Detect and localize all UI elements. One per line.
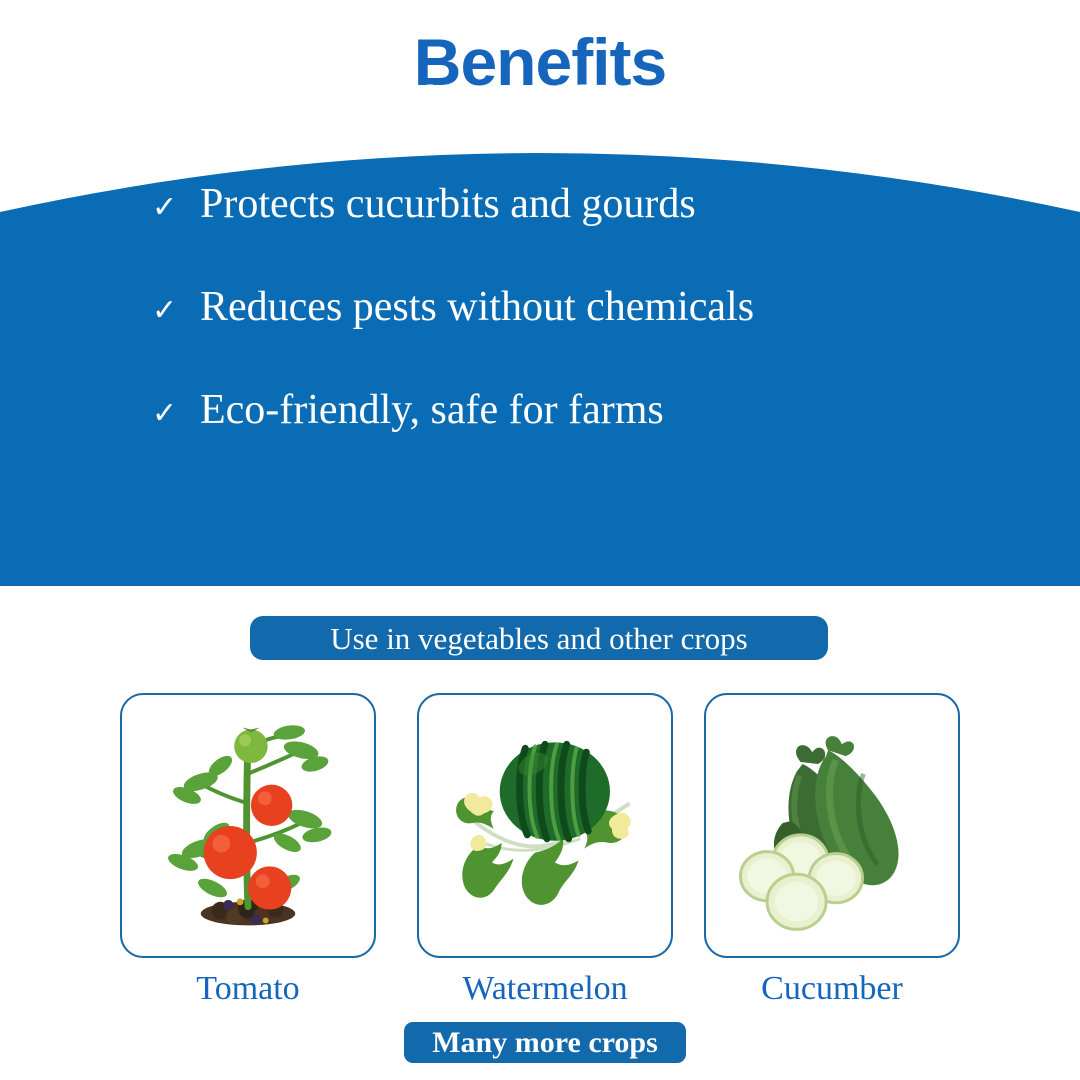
benefits-infographic: Benefits ✓ Traps harmful vegetable fruit… <box>0 0 1080 1080</box>
benefit-label: Protects cucurbits and gourds <box>200 183 696 225</box>
check-icon: ✓ <box>152 296 200 326</box>
benefit-label: Eco-friendly, safe for farms <box>200 389 664 431</box>
check-icon: ✓ <box>152 90 200 120</box>
usage-badge-label: Use in vegetables and other crops <box>330 623 748 654</box>
more-crops-badge-label: Many more crops <box>432 1028 658 1058</box>
benefit-item-1: ✓ Traps harmful vegetable fruit flies <box>0 80 1080 183</box>
crop-label: Watermelon <box>417 972 673 1006</box>
crop-card <box>417 693 673 958</box>
crop-label: Tomato <box>120 972 376 1006</box>
benefits-list: ✓ Traps harmful vegetable fruit flies ✓ … <box>0 80 1080 492</box>
cucumber-icon <box>706 695 958 956</box>
crop-cell-watermelon: Watermelon <box>417 693 673 1006</box>
check-icon: ✓ <box>152 193 200 223</box>
crop-card <box>120 693 376 958</box>
crop-card-row: Tomato <box>0 693 1080 1013</box>
benefit-label: Reduces pests without chemicals <box>200 286 754 328</box>
watermelon-vine-icon <box>419 695 671 956</box>
tomato-plant-icon <box>122 695 374 956</box>
crop-cell-tomato: Tomato <box>120 693 376 1006</box>
benefit-item-4: ✓ Eco-friendly, safe for farms <box>0 389 1080 492</box>
usage-badge: Use in vegetables and other crops <box>250 616 828 660</box>
benefit-item-3: ✓ Reduces pests without chemicals <box>0 286 1080 389</box>
more-crops-badge: Many more crops <box>404 1022 686 1063</box>
crop-label: Cucumber <box>704 972 960 1006</box>
crop-card <box>704 693 960 958</box>
check-icon: ✓ <box>152 399 200 429</box>
benefit-item-2: ✓ Protects cucurbits and gourds <box>0 183 1080 286</box>
benefit-label: Traps harmful vegetable fruit flies <box>200 80 775 122</box>
crop-cell-cucumber: Cucumber <box>704 693 960 1006</box>
